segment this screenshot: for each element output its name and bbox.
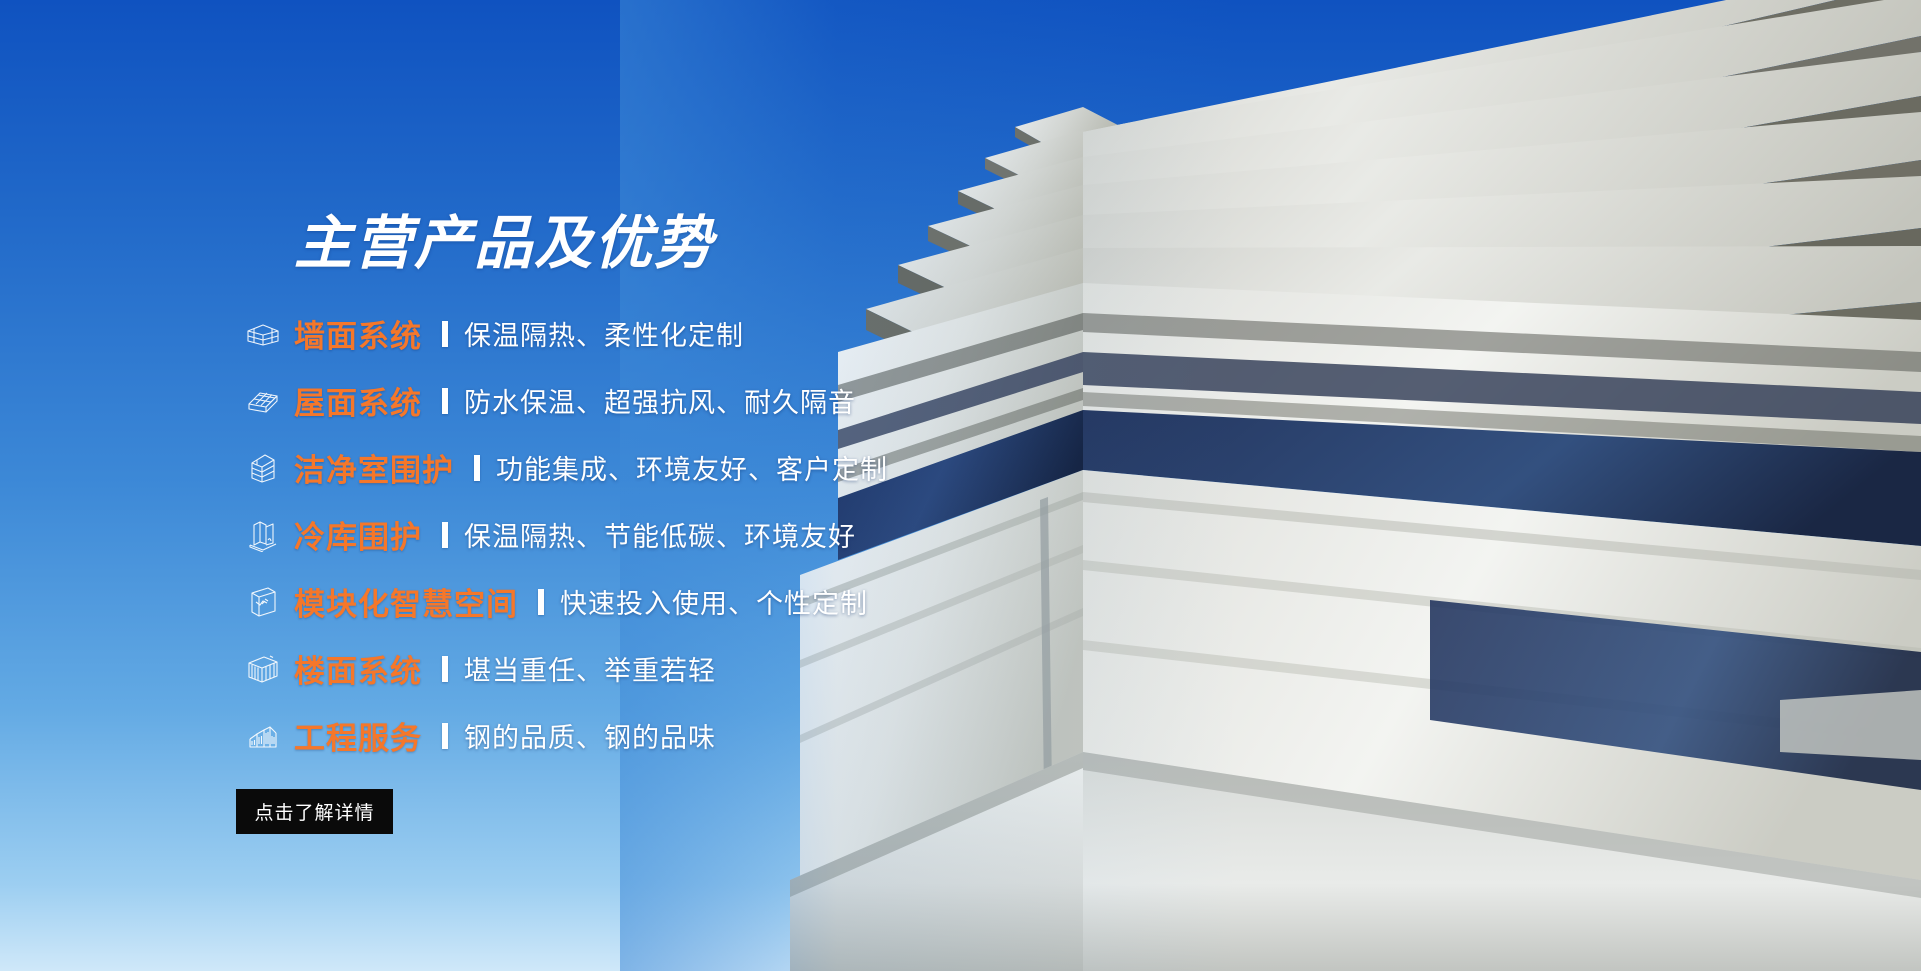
separator-bar [442, 723, 448, 749]
separator-bar [538, 589, 544, 615]
product-desc: 功能集成、环境友好、客户定制 [496, 448, 888, 487]
separator-bar [442, 522, 448, 548]
product-name: 洁净室围护 [294, 445, 454, 490]
product-desc: 堪当重任、举重若轻 [464, 649, 716, 688]
floor-deck-icon [232, 652, 294, 686]
cold-storage-icon [232, 518, 294, 552]
cleanroom-building-icon [232, 451, 294, 485]
product-desc: 防水保温、超强抗风、耐久隔音 [464, 381, 856, 420]
wall-panel-icon [232, 317, 294, 351]
product-desc: 钢的品质、钢的品味 [464, 716, 716, 755]
product-name: 楼面系统 [294, 646, 422, 691]
product-name: 屋面系统 [294, 378, 422, 423]
product-desc: 保温隔热、柔性化定制 [464, 314, 744, 353]
list-item[interactable]: 楼面系统 堪当重任、举重若轻 [232, 635, 1132, 702]
page-title: 主营产品及优势 [294, 196, 714, 280]
product-desc: 保温隔热、节能低碳、环境友好 [464, 515, 856, 554]
list-item[interactable]: 洁净室围护 功能集成、环境友好、客户定制 [232, 434, 1132, 501]
separator-bar [442, 321, 448, 347]
list-item[interactable]: 墙面系统 保温隔热、柔性化定制 [232, 300, 1132, 367]
separator-bar [442, 388, 448, 414]
learn-more-button[interactable]: 点击了解详情 [236, 789, 393, 834]
product-desc: 快速投入使用、个性定制 [560, 582, 868, 621]
product-name: 模块化智慧空间 [294, 579, 518, 624]
separator-bar [474, 455, 480, 481]
product-name: 工程服务 [294, 713, 422, 758]
list-item[interactable]: 工程服务 钢的品质、钢的品味 [232, 702, 1132, 769]
hero-banner: 主营产品及优势 墙面系统 保温隔热、柔性化定制 [0, 0, 1921, 971]
list-item[interactable]: 冷库围护 保温隔热、节能低碳、环境友好 [232, 501, 1132, 568]
product-name: 冷库围护 [294, 512, 422, 557]
roof-panel-icon [232, 384, 294, 418]
product-list: 墙面系统 保温隔热、柔性化定制 屋面系统 防水保温、超强抗风、 [232, 300, 1132, 769]
list-item[interactable]: 屋面系统 防水保温、超强抗风、耐久隔音 [232, 367, 1132, 434]
separator-bar [442, 656, 448, 682]
product-name: 墙面系统 [294, 311, 422, 356]
list-item[interactable]: 模块化智慧空间 快速投入使用、个性定制 [232, 568, 1132, 635]
engineering-service-icon [232, 719, 294, 753]
modular-cube-icon [232, 585, 294, 619]
building-right-face [1083, 0, 1921, 971]
